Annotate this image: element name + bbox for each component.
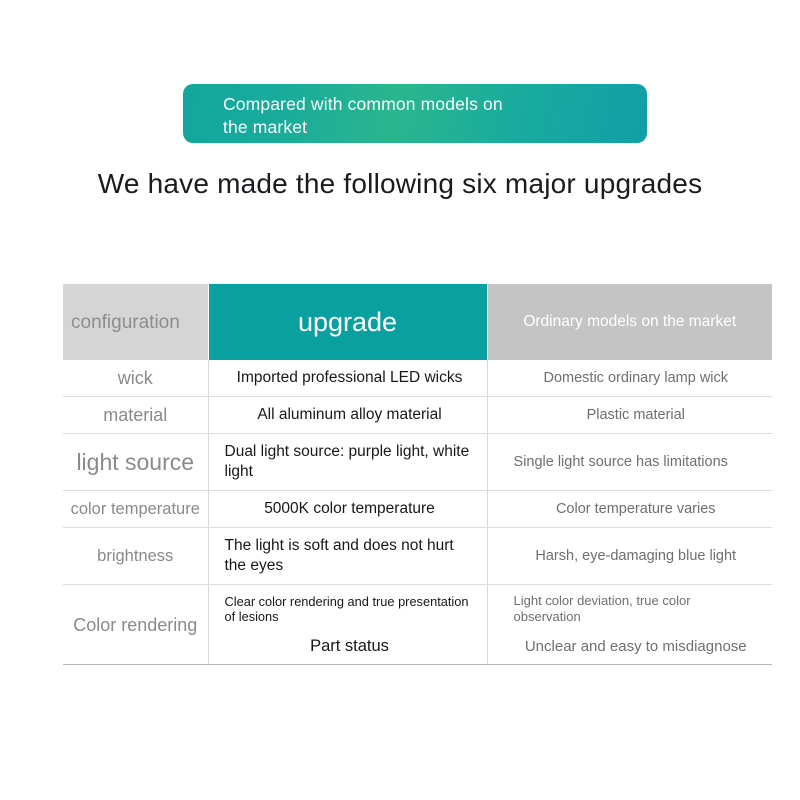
- banner-title: Compared with common models on the marke…: [223, 93, 603, 138]
- row-label-material: material: [63, 397, 208, 434]
- row-label-light-source: light source: [63, 434, 208, 491]
- table-row: wick Imported professional LED wicks Dom…: [63, 360, 772, 397]
- cell-ordinary-light-source: Single light source has limitations: [487, 434, 772, 491]
- cell-ordinary-wick: Domestic ordinary lamp wick: [487, 360, 772, 397]
- column-header-upgrade: upgrade: [208, 284, 487, 360]
- table-row: color temperature 5000K color temperatur…: [63, 491, 772, 528]
- cell-upgrade-color-rendering: Clear color rendering and true presentat…: [208, 585, 487, 665]
- cell-upgrade-wick: Imported professional LED wicks: [208, 360, 487, 397]
- comparison-table: configuration upgrade Ordinary models on…: [63, 284, 772, 665]
- row-label-color-rendering: Color rendering: [63, 585, 208, 665]
- page-title: We have made the following six major upg…: [0, 168, 800, 200]
- column-header-ordinary: Ordinary models on the market: [487, 284, 772, 360]
- column-header-configuration: configuration: [63, 284, 208, 360]
- table-header: configuration upgrade Ordinary models on…: [63, 284, 772, 360]
- row-label-color-temperature: color temperature: [63, 491, 208, 528]
- cell-ordinary-color-temperature: Color temperature varies: [487, 491, 772, 528]
- table-body: wick Imported professional LED wicks Dom…: [63, 360, 772, 665]
- cell-ordinary-color-rendering: Light color deviation, true color observ…: [487, 585, 772, 665]
- table-row: material All aluminum alloy material Pla…: [63, 397, 772, 434]
- cell-ordinary-color-rendering-primary: Light color deviation, true color observ…: [514, 593, 759, 625]
- table-header-row: configuration upgrade Ordinary models on…: [63, 284, 772, 360]
- table-row: Color rendering Clear color rendering an…: [63, 585, 772, 665]
- cell-upgrade-light-source: Dual light source: purple light, white l…: [208, 434, 487, 491]
- row-label-wick: wick: [63, 360, 208, 397]
- cell-upgrade-color-temperature: 5000K color temperature: [208, 491, 487, 528]
- cell-ordinary-color-rendering-secondary: Unclear and easy to misdiagnose: [514, 637, 759, 656]
- cell-upgrade-color-rendering-secondary: Part status: [225, 636, 475, 656]
- table-row: light source Dual light source: purple l…: [63, 434, 772, 491]
- column-header-configuration-label: configuration: [71, 310, 153, 335]
- cell-ordinary-material: Plastic material: [487, 397, 772, 434]
- cell-ordinary-brightness: Harsh, eye-damaging blue light: [487, 528, 772, 585]
- cell-upgrade-color-rendering-primary: Clear color rendering and true presentat…: [225, 594, 475, 624]
- table-row: brightness The light is soft and does no…: [63, 528, 772, 585]
- cell-upgrade-brightness: The light is soft and does not hurt the …: [208, 528, 487, 585]
- cell-upgrade-material: All aluminum alloy material: [208, 397, 487, 434]
- row-label-brightness: brightness: [63, 528, 208, 585]
- comparison-banner: Compared with common models on the marke…: [183, 84, 647, 143]
